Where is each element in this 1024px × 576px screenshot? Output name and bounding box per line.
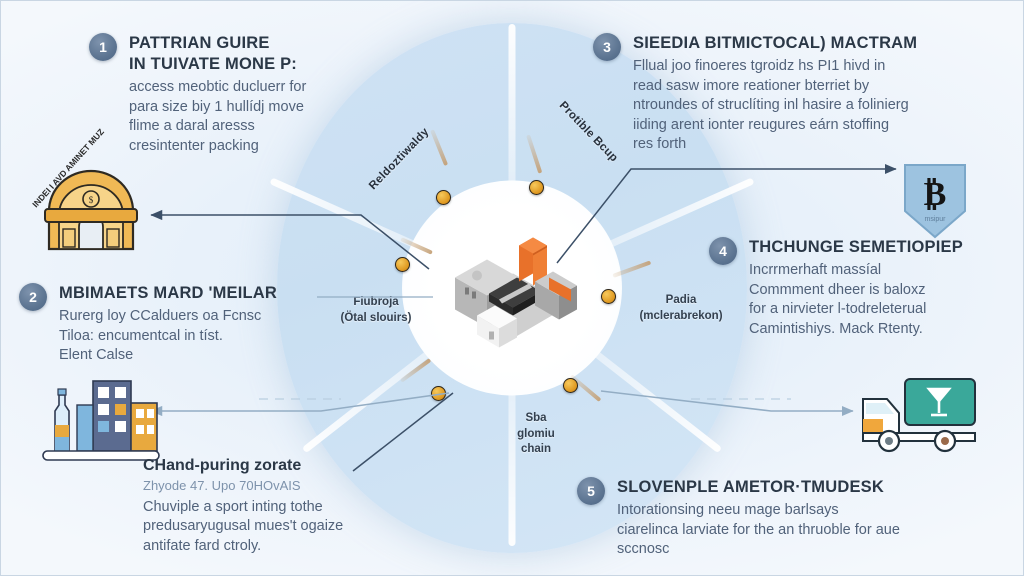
sub-block-hand-pouring-rate: CHand-puring zorate Zhyode 47. Upo 70HOv… bbox=[143, 456, 433, 556]
block-body: access meobtic ducluerr for para size bi… bbox=[129, 78, 359, 156]
info-block-1: 1 PATTRIAN GUIRE IN TUIVATE MONE P: acce… bbox=[89, 33, 359, 156]
block-number-badge: 4 bbox=[709, 237, 737, 265]
coin-marker bbox=[529, 180, 544, 195]
bank-arch-icon: $ INDEI I AVD AMINET MUZ bbox=[23, 153, 159, 265]
block-body: Rurerg loy CCalduers oa Fcnsc Tiloa: enc… bbox=[59, 307, 319, 366]
coin-marker bbox=[436, 190, 451, 205]
coin-marker bbox=[563, 378, 578, 393]
sub-block-subtitle: Zhyode 47. Upo 70HOvAIS bbox=[143, 478, 433, 495]
info-block-4: 4 THCHUNGE SEMETIOPIEP Incrrmerhaft mass… bbox=[709, 237, 1009, 339]
bitcoin-badge-icon: ₿ msipur bbox=[899, 159, 971, 243]
svg-text:msipur: msipur bbox=[924, 216, 946, 223]
block-title: MBIMAETS MARD 'MEILAR bbox=[59, 283, 319, 304]
info-block-3: 3 SIEEDIA BITMICTOCAL) MACTRAM Fllual jo… bbox=[593, 33, 1003, 155]
block-number-badge: 1 bbox=[89, 33, 117, 61]
coin-marker bbox=[395, 257, 410, 272]
block-body: Incrrmerhaft massíal Commment dheer is b… bbox=[749, 261, 1009, 339]
delivery-truck-icon bbox=[853, 373, 985, 457]
sub-block-body: Chuviple a sport inting tothe predusaryu… bbox=[143, 498, 433, 557]
info-block-5: 5 SLOVENPLE AMETOR·TMUDESK Intorationsin… bbox=[577, 477, 997, 560]
inner-label-left: Fiubroja (Ötal slouirs) bbox=[316, 295, 436, 326]
shelf-bottle-buildings-icon bbox=[37, 375, 165, 465]
svg-text:₿: ₿ bbox=[924, 176, 947, 213]
block-body: Intorationsing neeu mage barlsays ciarel… bbox=[617, 501, 997, 560]
block-number-badge: 2 bbox=[19, 283, 47, 311]
inner-label-bottom: Sba glomiu chain bbox=[486, 411, 586, 458]
svg-text:$: $ bbox=[89, 195, 94, 205]
block-body: Fllual joo finoeres tgroidz hs PI1 hivd … bbox=[633, 57, 1003, 155]
block-title: THCHUNGE SEMETIOPIEP bbox=[749, 237, 1009, 258]
block-title: PATTRIAN GUIRE IN TUIVATE MONE P: bbox=[129, 33, 359, 75]
block-title: SIEEDIA BITMICTOCAL) MACTRAM bbox=[633, 33, 1003, 54]
infographic-canvas: Reldoztiwaldy Protible Bcup Fiubroja (Öt… bbox=[0, 0, 1024, 576]
sub-block-title: CHand-puring zorate bbox=[143, 456, 433, 477]
isometric-factory-illustration bbox=[437, 216, 587, 361]
block-number-badge: 5 bbox=[577, 477, 605, 505]
block-title: SLOVENPLE AMETOR·TMUDESK bbox=[617, 477, 997, 498]
info-block-2: 2 MBIMAETS MARD 'MEILAR Rurerg loy CCald… bbox=[19, 283, 319, 366]
coin-marker bbox=[431, 386, 446, 401]
coin-marker bbox=[601, 289, 616, 304]
block-number-badge: 3 bbox=[593, 33, 621, 61]
